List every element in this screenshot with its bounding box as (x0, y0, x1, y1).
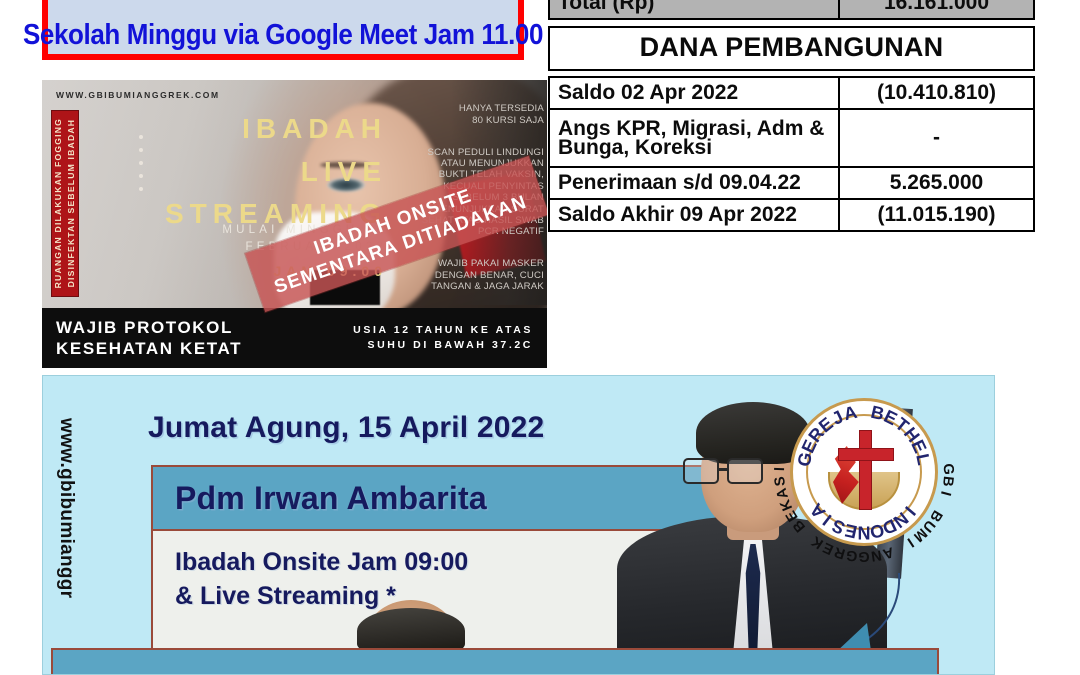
logo-cross-vertical (859, 430, 872, 510)
glasses-right-lens (727, 458, 763, 484)
logo-arc-char: B (939, 475, 956, 487)
glasses-bridge (719, 468, 729, 471)
logo-arc-char (861, 402, 866, 423)
poster-fogging-strip: RUANGAN DILAKUKAN FOGGING DISINFEKTAN SE… (51, 110, 79, 297)
table-row: Saldo Akhir 09 Apr 2022 (11.015.190) (549, 199, 1034, 231)
dana-row-value: (11.015.190) (839, 199, 1034, 231)
logo-cross-horizontal (838, 448, 894, 461)
poster-footer-age-temp-text: USIA 12 TAHUN KE ATAS SUHU DI BAWAH 37.2… (353, 323, 533, 353)
table-row-total: Total (Rp) 16.161.000 (549, 0, 1034, 19)
poster-footer-protocol-text: WAJIB PROTOKOL KESEHATAN KETAT (56, 317, 242, 359)
logo-arc-char: I (937, 489, 953, 497)
dana-pembangunan-header: DANA PEMBANGUNAN (548, 26, 1035, 71)
dana-row-label: Angs KPR, Migrasi, Adm & Bunga, Koreksi (549, 109, 839, 167)
protocol-item: WAJIB PAKAI MASKER DENGAN BENAR, CUCI TA… (404, 258, 544, 292)
sunday-school-inner-box: Sekolah Minggu via Google Meet Jam 11.00 (48, 0, 518, 54)
dana-row-value: (10.410.810) (839, 77, 1034, 109)
logo-arc-char (933, 500, 949, 510)
logo-arc-char: G (858, 548, 869, 564)
protocol-item: HANYA TERSEDIA 80 KURSI SAJA (404, 103, 544, 126)
logo-arc-char: S (772, 476, 789, 487)
live-streaming-poster: WWW.GBIBUMIANGGREK.COM RUANGAN DILAKUKAN… (42, 80, 547, 368)
sunday-school-banner: Sekolah Minggu via Google Meet Jam 11.00 (42, 0, 524, 60)
table-row: Angs KPR, Migrasi, Adm & Bunga, Koreksi … (549, 109, 1034, 167)
logo-arc-char: N (870, 546, 883, 563)
good-friday-website-url: www.gbibumianggr (55, 418, 77, 598)
screenshot-canvas: Sekolah Minggu via Google Meet Jam 11.00… (0, 0, 1080, 675)
table-row: Saldo 02 Apr 2022 (10.410.810) (549, 77, 1034, 109)
offering-total-label: Total (Rp) (549, 0, 839, 19)
gbi-logo: GEREJA BETHEL INDONESIA GBI BUMI ANGGREK… (772, 390, 956, 574)
dana-pembangunan-title: DANA PEMBANGUNAN (640, 32, 944, 62)
offering-total-value: 16.161.000 (839, 0, 1034, 19)
good-friday-bottom-bar (51, 648, 939, 675)
dana-row-label: Saldo Akhir 09 Apr 2022 (549, 199, 839, 231)
poster-fogging-text: RUANGAN DILAKUKAN FOGGING DISINFEKTAN SE… (52, 118, 78, 288)
good-friday-date: Jumat Agung, 15 April 2022 (148, 411, 544, 445)
poster-headline-line2: LIVE (132, 151, 387, 194)
good-friday-speaker-name: Pdm Irwan Ambarita (175, 480, 487, 517)
logo-arc-char (894, 540, 904, 556)
poster-headline-line1: IBADAH (132, 108, 387, 151)
logo-arc-char: G (845, 546, 858, 563)
dana-row-value: 5.265.000 (839, 167, 1034, 199)
poster-website-url: WWW.GBIBUMIANGGREK.COM (56, 90, 220, 100)
dana-row-label: Penerimaan s/d 09.04.22 (549, 167, 839, 199)
offering-summary-table: Sulung - Total (Rp) 16.161.000 (548, 0, 1035, 20)
dana-row-label: Saldo 02 Apr 2022 (549, 77, 839, 109)
good-friday-service-banner: www.gbibumianggr Jumat Agung, 15 April 2… (42, 375, 995, 675)
dana-pembangunan-table: Saldo 02 Apr 2022 (10.410.810) Angs KPR,… (548, 76, 1035, 232)
logo-arc-char: I (772, 467, 788, 472)
financial-tables-region: Sulung - Total (Rp) 16.161.000 DANA PEMB… (548, 0, 1035, 232)
sunday-school-text: Sekolah Minggu via Google Meet Jam 11.00 (23, 17, 543, 52)
dana-row-value: - (839, 109, 1034, 167)
table-row: Penerimaan s/d 09.04.22 5.265.000 (549, 167, 1034, 199)
logo-arc-char: N (858, 522, 871, 543)
logo-arc-char: G (940, 463, 956, 475)
poster-footer-bar: WAJIB PROTOKOL KESEHATAN KETAT USIA 12 T… (42, 308, 547, 368)
glasses-left-lens (683, 458, 719, 484)
logo-arc-char: A (881, 543, 896, 561)
